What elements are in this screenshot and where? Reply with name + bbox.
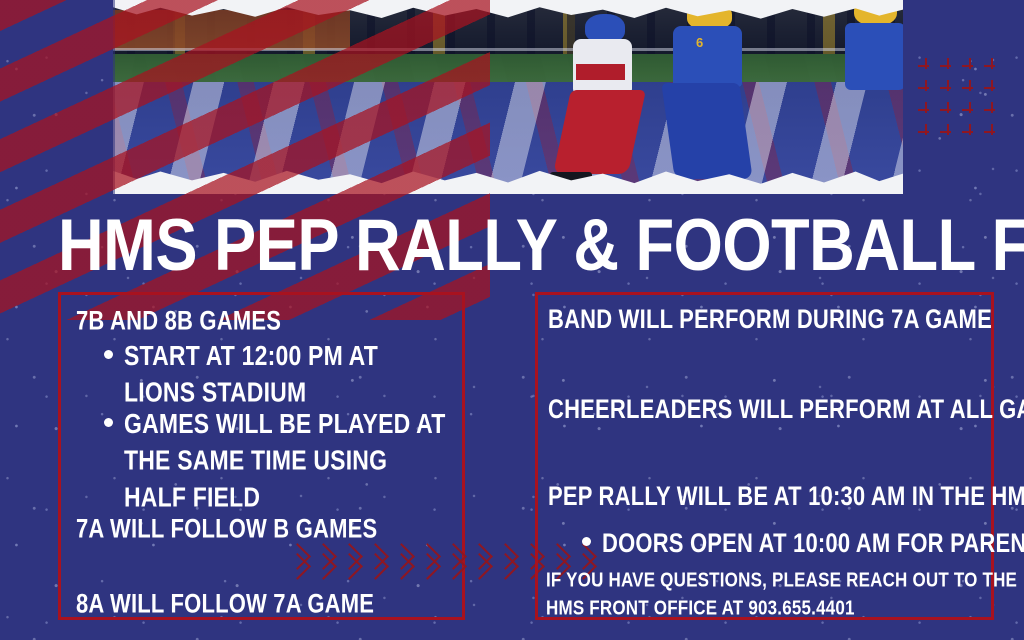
chevron-icon: [470, 543, 492, 581]
bullet-dot-icon: [582, 537, 591, 546]
plus-icon: [937, 77, 959, 99]
plus-icon: [937, 55, 959, 77]
page-title: HMS PEP RALLY & FOOTBALL FRIDAY, NOV. 4T…: [58, 212, 991, 280]
left-bullet-2: GAMES WILL BE PLAYED AT THE SAME TIME US…: [124, 405, 454, 515]
right-line-3: PEP RALLY WILL BE AT 10:30 AM IN THE HMS…: [548, 481, 1024, 512]
plus-icon: [981, 99, 1003, 121]
right-line-1: BAND WILL PERFORM DURING 7A GAME: [548, 304, 992, 335]
player-sideline: [840, 0, 903, 138]
poster-canvas: 6 HMS PEP RALLY & FOOTBALL FRIDAY, NOV. …: [0, 0, 1024, 640]
photo-rail: [113, 48, 903, 51]
plus-icon: [959, 121, 981, 143]
chevron-icon: [496, 543, 518, 581]
plus-icon: [915, 55, 937, 77]
plus-icon: [959, 77, 981, 99]
plus-icon: [981, 55, 1003, 77]
footer-line-1: IF YOU HAVE QUESTIONS, PLEASE REACH OUT …: [546, 569, 1017, 593]
plus-icon: [937, 121, 959, 143]
player-blue: 6: [658, 2, 753, 186]
plus-dot-grid: [915, 55, 1003, 143]
football-photo: 6: [113, 0, 903, 194]
plus-icon: [937, 99, 959, 121]
plus-icon: [959, 55, 981, 77]
bullet-dot-icon: [104, 418, 113, 427]
plus-icon: [981, 121, 1003, 143]
plus-icon: [915, 99, 937, 121]
plus-icon: [915, 121, 937, 143]
plus-icon: [959, 99, 981, 121]
left-line-1: 7A WILL FOLLOW B GAMES: [76, 513, 377, 545]
plus-icon: [915, 77, 937, 99]
bullet-dot-icon: [104, 350, 113, 359]
photo-wall: [113, 10, 350, 50]
right-line-2: CHEERLEADERS WILL PERFORM AT ALL GAMES: [548, 394, 1024, 425]
player-red: [555, 14, 642, 182]
left-bullet-1: START AT 12:00 PM AT LIONS STADIUM: [124, 337, 454, 410]
plus-icon: [981, 77, 1003, 99]
footer-line-2: HMS FRONT OFFICE AT 903.655.4401: [546, 597, 855, 621]
photo-image: 6: [113, 0, 903, 194]
photo-endzone: [113, 82, 903, 194]
left-line-2: 8A WILL FOLLOW 7A GAME: [76, 588, 374, 620]
left-heading: 7B AND 8B GAMES: [76, 305, 281, 337]
right-bullet: DOORS OPEN AT 10:00 AM FOR PARENTS: [602, 528, 1024, 559]
